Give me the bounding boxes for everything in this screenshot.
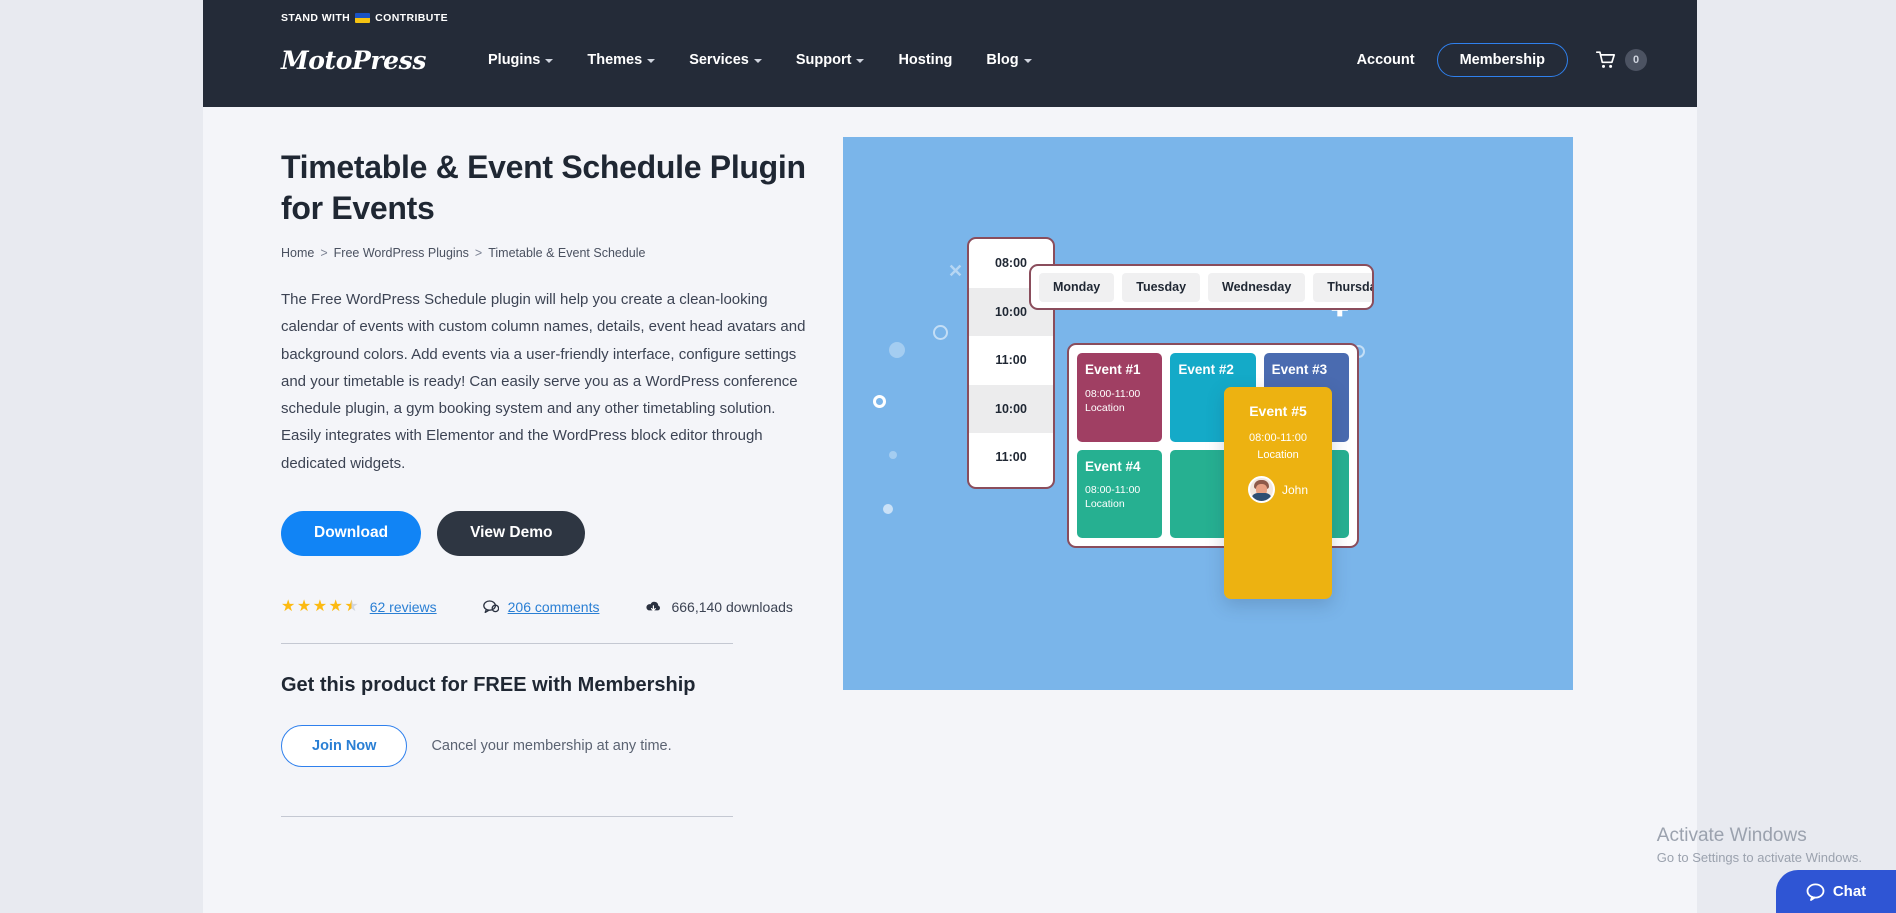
cta-button-row: Download View Demo xyxy=(281,511,826,556)
chevron-down-icon xyxy=(545,59,553,63)
day-chip-tuesday[interactable]: Tuesday xyxy=(1122,273,1200,302)
breadcrumb-separator: > xyxy=(320,246,327,260)
timetable-days-header: Monday Tuesday Wednesday Thursday xyxy=(1029,264,1374,310)
cloud-download-icon xyxy=(645,600,662,614)
event-card-4[interactable]: Event #4 08:00-11:00 Location xyxy=(1077,450,1162,539)
event-location: Location xyxy=(1085,497,1154,511)
featured-event-host: John xyxy=(1234,476,1322,503)
decor-dot-icon xyxy=(883,504,893,514)
avatar xyxy=(1248,476,1275,503)
product-stats: ★ ★ ★ ★ ★ 62 reviews 206 xyxy=(281,599,826,615)
section-divider xyxy=(281,643,733,644)
star-icon: ★ xyxy=(281,599,295,615)
event-title: Event #3 xyxy=(1272,362,1341,379)
breadcrumb-separator: > xyxy=(475,246,482,260)
nav-links: Plugins Themes Services Support xyxy=(488,52,1032,68)
featured-event-card[interactable]: Event #5 08:00-11:00 Location John xyxy=(1224,387,1332,599)
rating-stars: ★ ★ ★ ★ ★ xyxy=(281,599,359,615)
promo-suffix: CONTRIBUTE xyxy=(375,12,448,24)
nav-label: Hosting xyxy=(898,52,952,68)
nav-item-support[interactable]: Support xyxy=(796,52,865,68)
time-slot: 11:00 xyxy=(969,433,1053,482)
page-canvas: STAND WITH CONTRIBUTE MotoPress Plugins … xyxy=(203,0,1697,913)
event-title: Event #2 xyxy=(1178,362,1247,379)
download-button[interactable]: Download xyxy=(281,511,421,556)
day-chip-wednesday[interactable]: Wednesday xyxy=(1208,273,1305,302)
downloads-stat: 666,140 downloads xyxy=(645,599,792,615)
decor-ring-solid-icon xyxy=(873,395,886,408)
join-now-button[interactable]: Join Now xyxy=(281,725,407,767)
nav-label: Themes xyxy=(587,52,642,68)
membership-note: Cancel your membership at any time. xyxy=(431,738,671,754)
nav-item-blog[interactable]: Blog xyxy=(986,52,1031,68)
breadcrumb-item-home[interactable]: Home xyxy=(281,246,314,260)
nav-item-plugins[interactable]: Plugins xyxy=(488,52,553,68)
event-title: Event #1 xyxy=(1085,362,1154,379)
comment-bubble-icon xyxy=(483,600,499,614)
avatar-body xyxy=(1251,493,1272,501)
stand-with-ukraine-banner[interactable]: STAND WITH CONTRIBUTE xyxy=(281,12,448,24)
chevron-down-icon xyxy=(856,59,864,63)
event-title: Event #4 xyxy=(1085,459,1154,476)
event-time: 08:00-11:00 xyxy=(1085,387,1154,401)
day-chip-thursday[interactable]: Thursday xyxy=(1313,273,1374,302)
day-chip-monday[interactable]: Monday xyxy=(1039,273,1114,302)
account-link[interactable]: Account xyxy=(1357,52,1415,68)
product-info-column: Timetable & Event Schedule Plugin for Ev… xyxy=(281,107,826,817)
featured-event-title: Event #5 xyxy=(1234,403,1322,419)
star-half-icon: ★ xyxy=(344,599,358,615)
chevron-down-icon xyxy=(647,59,655,63)
breadcrumb-item-current: Timetable & Event Schedule xyxy=(488,246,645,260)
membership-button[interactable]: Membership xyxy=(1437,43,1568,77)
event-time: 08:00-11:00 xyxy=(1085,483,1154,497)
decor-x-icon: ✕ xyxy=(948,262,963,280)
featured-event-location: Location xyxy=(1234,447,1322,464)
time-slot: 10:00 xyxy=(969,385,1053,434)
product-description: The Free WordPress Schedule plugin will … xyxy=(281,286,806,477)
chevron-down-icon xyxy=(1024,59,1032,63)
cart-count-badge: 0 xyxy=(1625,49,1647,71)
chevron-down-icon xyxy=(754,59,762,63)
screen: STAND WITH CONTRIBUTE MotoPress Plugins … xyxy=(0,0,1896,913)
ukraine-flag-icon xyxy=(355,13,370,23)
downloads-count: 666,140 downloads xyxy=(671,599,792,615)
comments-link[interactable]: 206 comments xyxy=(508,599,600,615)
comments-stat[interactable]: 206 comments xyxy=(483,599,600,615)
time-slot: 11:00 xyxy=(969,336,1053,385)
breadcrumb: Home > Free WordPress Plugins > Timetabl… xyxy=(281,246,826,260)
chat-widget-button[interactable]: Chat xyxy=(1776,870,1896,913)
site-header: STAND WITH CONTRIBUTE MotoPress Plugins … xyxy=(203,0,1697,107)
motopress-logo[interactable]: MotoPress xyxy=(281,46,426,75)
host-name: John xyxy=(1282,483,1308,497)
nav-label: Plugins xyxy=(488,52,540,68)
star-icon: ★ xyxy=(329,599,343,615)
nav-item-themes[interactable]: Themes xyxy=(587,52,655,68)
promo-prefix: STAND WITH xyxy=(281,12,350,24)
view-demo-button[interactable]: View Demo xyxy=(437,511,585,556)
page-content: Timetable & Event Schedule Plugin for Ev… xyxy=(203,107,1697,913)
breadcrumb-item-free-plugins[interactable]: Free WordPress Plugins xyxy=(334,246,469,260)
reviews-link[interactable]: 62 reviews xyxy=(370,599,437,615)
membership-promo-title: Get this product for FREE with Membershi… xyxy=(281,674,826,697)
page-title: Timetable & Event Schedule Plugin for Ev… xyxy=(281,147,811,229)
star-icon: ★ xyxy=(297,599,311,615)
nav-label: Services xyxy=(689,52,749,68)
nav-item-services[interactable]: Services xyxy=(689,52,762,68)
nav-label: Support xyxy=(796,52,852,68)
star-icon: ★ xyxy=(313,599,327,615)
event-location: Location xyxy=(1085,401,1154,415)
cart-group[interactable]: 0 xyxy=(1596,49,1647,71)
nav-label: Blog xyxy=(986,52,1018,68)
featured-event-time: 08:00-11:00 xyxy=(1234,430,1322,447)
hero-column: ✕ ✚ ✕ 08:00 10:00 11: xyxy=(843,137,1573,690)
chat-label: Chat xyxy=(1833,883,1866,900)
event-card-1[interactable]: Event #1 08:00-11:00 Location xyxy=(1077,353,1162,442)
primary-nav-row: MotoPress Plugins Themes Services xyxy=(281,42,1647,78)
hero-illustration: ✕ ✚ ✕ 08:00 10:00 11: xyxy=(843,137,1573,690)
membership-join-row: Join Now Cancel your membership at any t… xyxy=(281,725,826,767)
shopping-cart-icon xyxy=(1596,51,1616,69)
decor-ring-icon xyxy=(933,325,948,340)
decor-dot-icon xyxy=(889,451,897,459)
nav-item-hosting[interactable]: Hosting xyxy=(898,52,952,68)
header-actions: Account Membership 0 xyxy=(1357,43,1647,77)
decor-dot-icon xyxy=(889,342,905,358)
section-divider-bottom xyxy=(281,816,733,817)
chat-bubble-icon xyxy=(1806,883,1825,901)
